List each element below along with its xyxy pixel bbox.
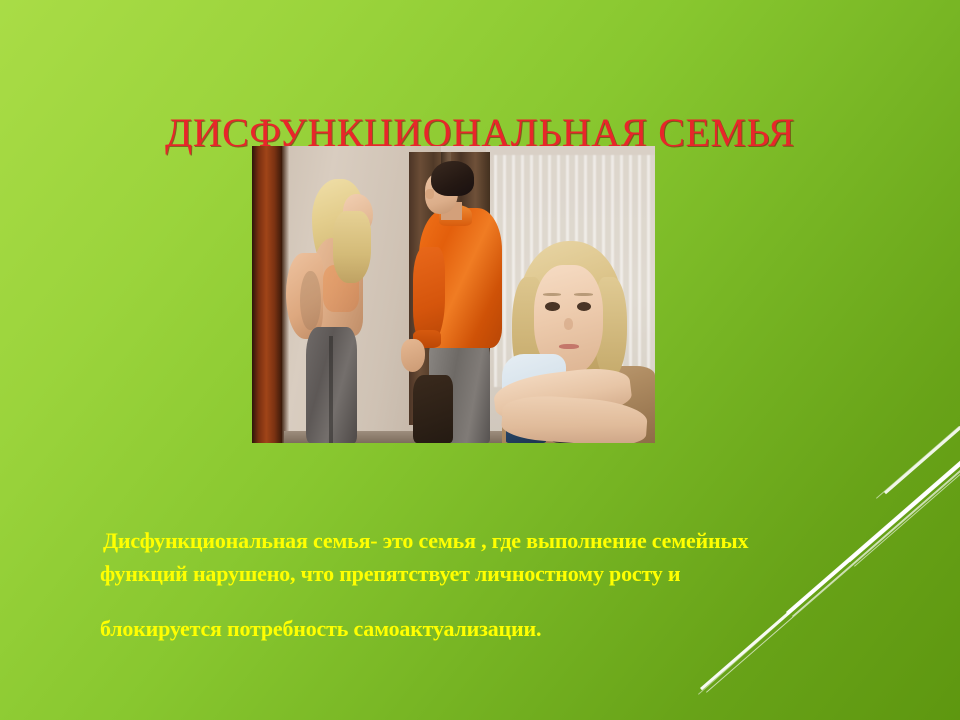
- streak-thick-4: [884, 424, 960, 494]
- photo-wooden-door-frame: [252, 146, 282, 443]
- photo-woman-long-hair: [333, 211, 371, 282]
- photo-woman-jeans-seam: [329, 336, 334, 443]
- slide-body-text: Дисфункциональная семья- это семья , где…: [96, 524, 916, 645]
- body-line-1: Дисфункциональная семья- это семья , где…: [96, 524, 916, 557]
- photo-woman-arm-shadow: [300, 271, 320, 330]
- photo-girl-nose: [564, 318, 574, 330]
- body-line-3: блокируется потребность самоактуализации…: [96, 612, 916, 645]
- photo-man-nose: [425, 189, 434, 199]
- family-conflict-photo: [252, 146, 655, 443]
- photo-man-hair: [431, 161, 473, 197]
- photo-man-lower-shadow: [413, 375, 453, 443]
- streak-hair-2: [876, 426, 960, 499]
- photo-girl-mouth: [559, 344, 579, 349]
- body-line-2: функций нарушено, что препятствует лично…: [96, 557, 916, 590]
- presentation-slide: ДИСФУНКЦИОНАЛЬНАЯ СЕМЬЯ: [0, 0, 960, 720]
